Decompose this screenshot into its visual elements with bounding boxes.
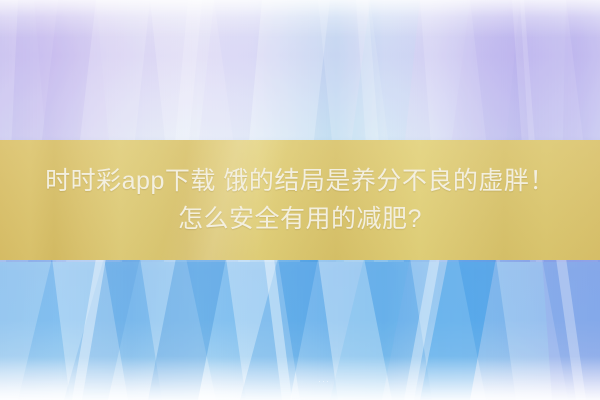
watermark-text: ··· [296, 374, 352, 388]
title-line-1: 时时彩app下载 饿的结局是养分不良的虚胖！ [45, 162, 555, 200]
banner-image: 时时彩app下载 饿的结局是养分不良的虚胖！ 怎么安全有用的减肥? ··· [0, 0, 600, 400]
title-band: 时时彩app下载 饿的结局是养分不良的虚胖！ 怎么安全有用的减肥? [0, 140, 600, 260]
title-line-2: 怎么安全有用的减肥? [178, 200, 422, 238]
top-haze-overlay [0, 0, 600, 38]
